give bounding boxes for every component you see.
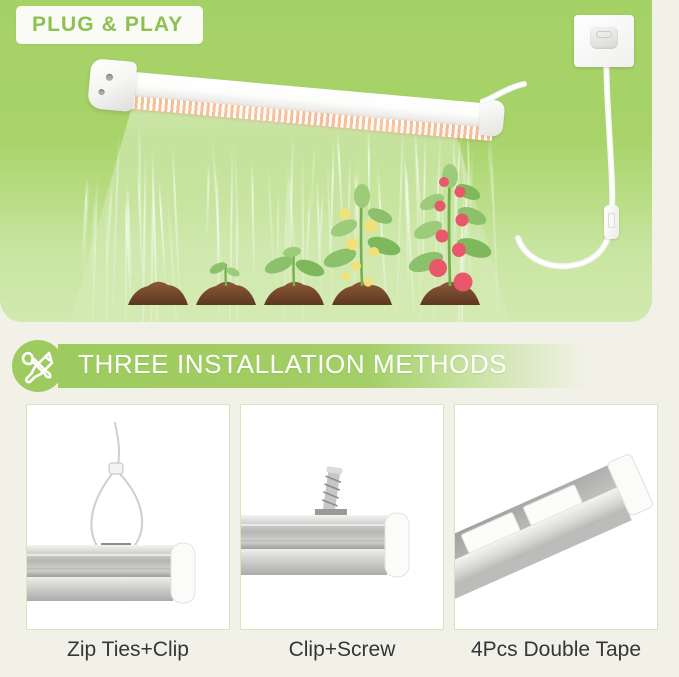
light-ray [112, 130, 120, 305]
power-cord [498, 40, 644, 280]
light-ray [267, 167, 274, 277]
cord-to-fixture-link [480, 78, 540, 118]
light-ray [216, 170, 220, 316]
plug-and-play-badge: PLUG & PLAY [16, 6, 203, 44]
light-ray [282, 166, 288, 322]
light-ray [402, 146, 414, 315]
light-ray [353, 166, 357, 300]
endcap-port-upper [106, 74, 114, 82]
light-ray [287, 134, 293, 307]
light-ray [228, 143, 232, 322]
endcap-port-lower [98, 89, 105, 96]
light-ray [158, 179, 166, 278]
light-ray [327, 161, 334, 308]
caption-zip-ties: Zip Ties+Clip [18, 639, 238, 660]
light-ray [284, 136, 293, 312]
plant-stage-1 [128, 282, 188, 305]
light-ray [277, 185, 279, 283]
light-ray [82, 178, 90, 274]
light-ray [92, 176, 98, 322]
light-ray [461, 197, 464, 322]
light-ray [251, 160, 255, 274]
switch-rocker[interactable] [608, 213, 615, 228]
caption-double-tape: 4Pcs Double Tape [446, 639, 666, 660]
light-ray [318, 193, 323, 260]
power-plug [590, 27, 618, 49]
light-ray [305, 191, 311, 280]
method-card-zip-ties [26, 404, 230, 630]
light-ray [90, 193, 96, 280]
light-ray [141, 150, 146, 322]
inline-switch[interactable] [604, 205, 619, 239]
light-ray [151, 149, 158, 322]
light-ray [206, 163, 209, 234]
plant-stage-3 [262, 246, 326, 305]
light-ray [126, 182, 131, 277]
zip-tie-illustration [27, 405, 230, 630]
light-ray [405, 166, 409, 285]
plant-stage-2 [196, 260, 256, 305]
light-ray [316, 178, 322, 294]
light-ray [301, 150, 304, 322]
light-ray [289, 177, 296, 256]
light-ray [235, 192, 237, 322]
hero-panel: PLUG & PLAY [0, 0, 652, 322]
light-ray [125, 198, 132, 298]
plug-slot [596, 31, 612, 38]
light-ray [106, 175, 113, 266]
light-ray [234, 148, 240, 256]
caption-clip-screw: Clip+Screw [232, 639, 452, 660]
light-ray [376, 165, 386, 306]
light-ray [436, 167, 444, 305]
light-ray [286, 160, 289, 271]
banner-title: THREE INSTALLATION METHODS [78, 351, 507, 377]
light-ray [460, 152, 469, 322]
plant-stage-4 [321, 184, 402, 305]
light-ray [355, 156, 360, 297]
plug-and-play-label: PLUG & PLAY [32, 14, 183, 35]
light-ray [347, 158, 351, 250]
light-ray [211, 141, 221, 275]
light-ray [137, 161, 143, 272]
light-ray [82, 177, 88, 253]
light-ray [106, 187, 112, 257]
method-card-double-tape [454, 404, 658, 630]
installation-banner: THREE INSTALLATION METHODS [0, 338, 679, 394]
wall-outlet [574, 15, 634, 67]
light-ray [405, 165, 411, 232]
wrench-screwdriver-icon [12, 340, 64, 392]
light-ray [454, 185, 464, 322]
led-grow-light-tube [84, 56, 502, 176]
method-card-clip-screw [240, 404, 444, 630]
light-ray [172, 146, 181, 294]
double-tape-illustration [455, 405, 658, 630]
fixture-endcap-left [87, 58, 137, 112]
light-ray [150, 160, 154, 322]
light-ray [166, 186, 182, 322]
clip-screw-illustration [241, 405, 444, 630]
product-infographic: PLUG & PLAY THREE INSTALLATION METHODS [0, 0, 679, 677]
light-ray [354, 172, 360, 239]
plant-stage-5 [406, 164, 494, 305]
light-ray [439, 159, 446, 300]
light-ray [106, 193, 108, 322]
light-ray [125, 194, 127, 322]
